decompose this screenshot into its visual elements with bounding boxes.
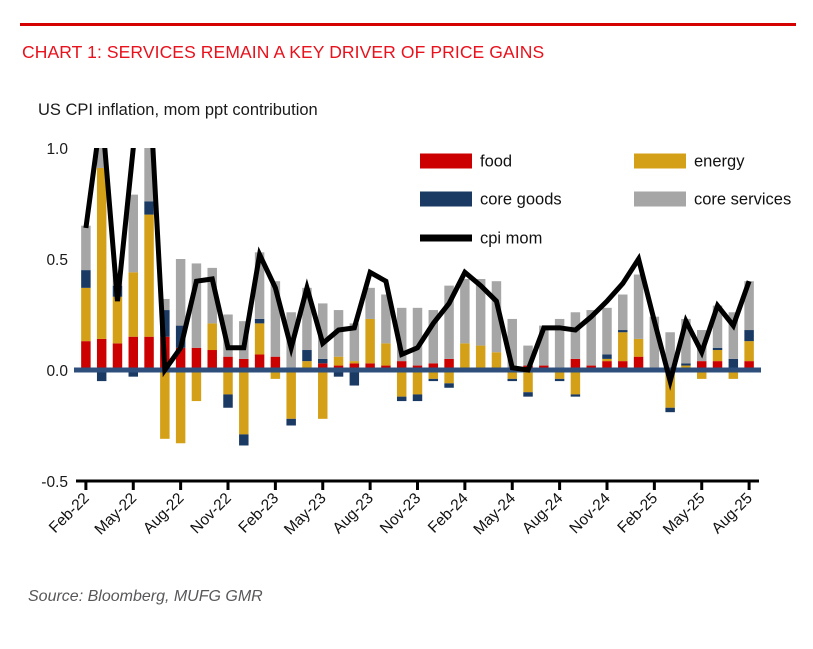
x-axis-tick-label: Nov-24: [566, 490, 614, 538]
bar-segment: [255, 323, 264, 354]
bar-segment: [381, 343, 390, 365]
bar-segment: [571, 312, 580, 359]
x-axis-tick-label: May-24: [470, 490, 519, 539]
bar-segment: [523, 392, 532, 396]
chart-legend: foodenergycore goodscore servicescpi mom: [420, 152, 791, 247]
legend-swatch: [634, 154, 686, 169]
bar-segment: [160, 370, 169, 439]
bar-segment: [665, 408, 674, 412]
bar-segment: [239, 434, 248, 445]
x-axis-tick-label: May-25: [660, 490, 709, 539]
x-axis: [76, 481, 759, 490]
legend-item: core services: [634, 190, 791, 208]
x-axis-tick-label: Feb-24: [425, 490, 472, 537]
bar-segment: [81, 288, 90, 341]
y-axis-tick-label: 1.0: [46, 141, 68, 158]
bar-segment: [744, 341, 753, 361]
bar-segment: [397, 397, 406, 401]
bar-segment: [144, 337, 153, 370]
legend-item: cpi mom: [420, 229, 542, 247]
source-note: Source: Bloomberg, MUFG GMR: [28, 588, 263, 606]
legend-line-marker: [420, 235, 472, 242]
bar-segment: [223, 394, 232, 407]
legend-label: core goods: [480, 190, 562, 208]
legend-label: food: [480, 152, 512, 170]
x-axis-tick-label: Aug-22: [140, 490, 187, 537]
bar-segment: [286, 419, 295, 426]
bar-segment: [129, 195, 138, 273]
bar-segment: [571, 370, 580, 394]
x-axis-tick-label: May-23: [281, 490, 330, 539]
bar-segment: [365, 319, 374, 363]
bar-segment: [176, 259, 185, 326]
bar-segment: [192, 370, 201, 401]
bar-segment: [476, 346, 485, 368]
bar-segment: [571, 394, 580, 396]
x-axis-tick-label: Aug-24: [519, 490, 567, 538]
bar-segment: [81, 226, 90, 270]
bar-segment: [144, 215, 153, 337]
bar-segment: [618, 295, 627, 331]
bar-segment: [144, 201, 153, 214]
bar-segment: [602, 359, 611, 361]
bar-segment: [602, 354, 611, 358]
bar-segment: [413, 308, 422, 366]
bar-segment: [97, 168, 106, 339]
bar-segment: [334, 357, 343, 366]
bar-segment: [97, 339, 106, 370]
bar-segment: [602, 308, 611, 355]
x-axis-tick-label: Nov-22: [187, 490, 234, 537]
bar-segment: [713, 348, 722, 350]
bar-segment: [397, 370, 406, 397]
bar-segment: [302, 350, 311, 361]
bar-segment: [113, 343, 122, 370]
legend-label: cpi mom: [480, 229, 542, 247]
x-axis-tick-labels: Feb-22May-22Aug-22Nov-22Feb-23May-23Aug-…: [46, 490, 756, 539]
x-axis-tick-label: Feb-25: [614, 490, 661, 537]
y-axis-tick-label: 0.0: [46, 363, 68, 380]
bar-segment: [286, 370, 295, 419]
bar-segment: [460, 343, 469, 370]
bar-segment: [81, 341, 90, 370]
bar-segment: [634, 339, 643, 357]
legend-item: core goods: [420, 190, 562, 208]
bar-segment: [413, 394, 422, 401]
bar-segment: [492, 352, 501, 370]
x-axis-tick-label: Feb-22: [46, 490, 93, 537]
y-axis-tick-label: -0.5: [41, 474, 68, 491]
x-axis-tick-label: Aug-25: [709, 490, 756, 537]
bar-segment: [318, 370, 327, 419]
bar-segment: [255, 319, 264, 323]
bar-segment: [460, 279, 469, 343]
bar-segment: [555, 379, 564, 381]
bar-segment: [207, 350, 216, 370]
bar-segment: [207, 323, 216, 350]
bar-segment: [681, 366, 690, 368]
legend-item: food: [420, 152, 512, 170]
chart-canvas: -0.50.00.51.0 Feb-22May-22Aug-22Nov-22Fe…: [0, 0, 813, 649]
y-axis-ticks: -0.50.00.51.0: [41, 141, 68, 491]
legend-label: energy: [694, 152, 745, 170]
chart-page: CHART 1: SERVICES REMAIN A KEY DRIVER OF…: [0, 0, 813, 649]
x-axis-tick-label: May-22: [92, 490, 141, 539]
bar-segment: [713, 350, 722, 361]
bar-segment: [129, 337, 138, 370]
bar-segment: [413, 370, 422, 394]
bars-layer: [81, 137, 754, 446]
x-axis-tick-label: Nov-23: [377, 490, 424, 537]
legend-label: core services: [694, 190, 791, 208]
x-axis-tick-label: Aug-23: [330, 490, 377, 537]
y-axis-tick-label: 0.5: [46, 252, 68, 269]
bar-segment: [618, 332, 627, 361]
bar-segment: [429, 379, 438, 381]
bar-segment: [618, 330, 627, 332]
bar-segment: [444, 383, 453, 387]
bar-segment: [81, 270, 90, 288]
x-axis-tick-label: Feb-23: [235, 490, 282, 537]
bar-segment: [508, 379, 517, 381]
legend-swatch: [634, 192, 686, 207]
bar-segment: [113, 297, 122, 344]
bar-segment: [634, 275, 643, 339]
bar-segment: [129, 272, 138, 336]
bar-segment: [318, 359, 327, 363]
legend-swatch: [420, 154, 472, 169]
bar-segment: [744, 330, 753, 341]
bar-segment: [176, 370, 185, 443]
bar-segment: [223, 370, 232, 394]
bar-segment: [239, 370, 248, 434]
bar-segment: [681, 363, 690, 365]
legend-item: energy: [634, 152, 745, 170]
bar-segment: [523, 370, 532, 392]
bar-segment: [350, 361, 359, 363]
bar-segment: [192, 348, 201, 370]
legend-swatch: [420, 192, 472, 207]
